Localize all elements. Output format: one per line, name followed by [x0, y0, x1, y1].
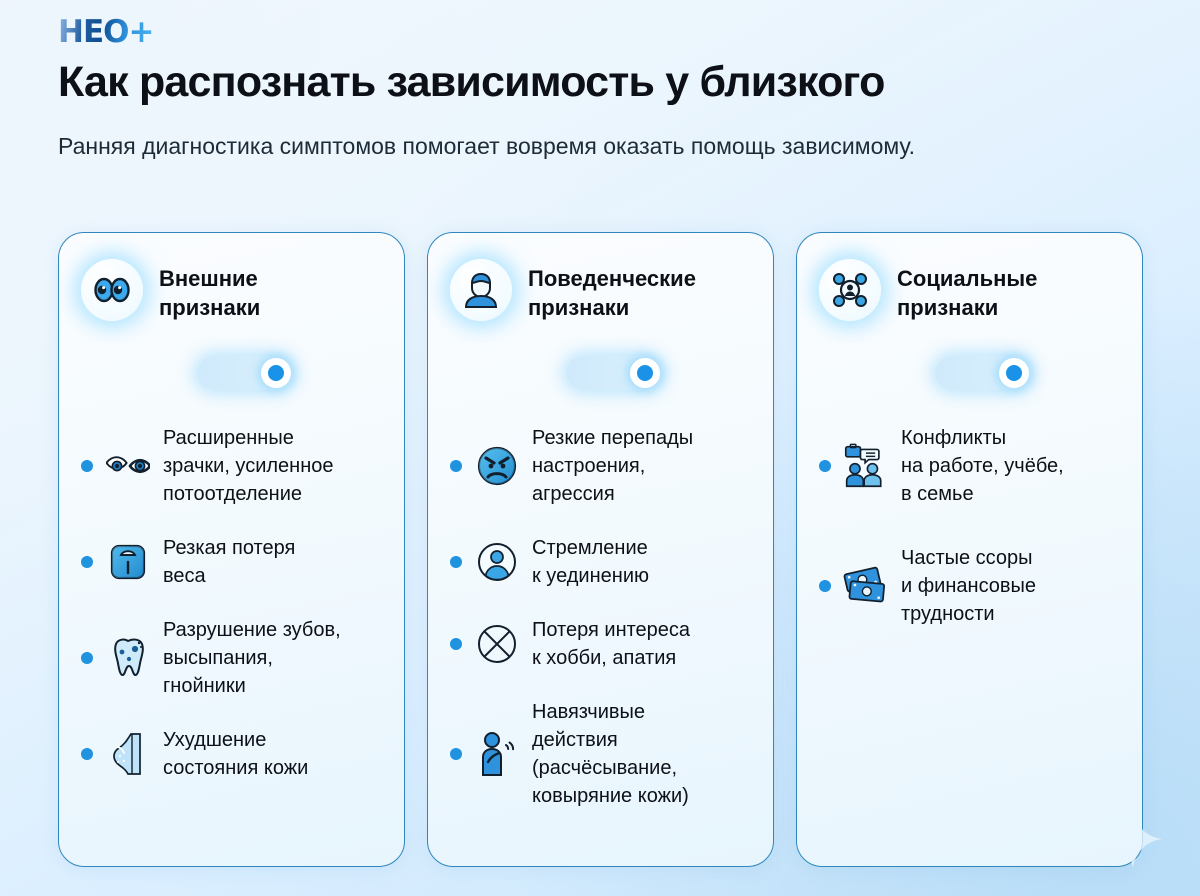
- toggle-switch-on[interactable]: [935, 356, 1031, 390]
- symptom-list: Конфликты на работе, учёбе, в семье: [819, 424, 1120, 664]
- bullet-dot: [81, 556, 93, 568]
- list-item-label: Частые ссоры и финансовые трудности: [901, 544, 1036, 628]
- toggle-switch-on[interactable]: [197, 356, 293, 390]
- list-item: Конфликты на работе, учёбе, в семье: [819, 424, 1120, 508]
- list-item-label: Разрушение зубов, высыпания, гнойники: [163, 616, 341, 700]
- sparkle-star-icon: [1102, 808, 1164, 870]
- toggle-switch-on[interactable]: [566, 356, 662, 390]
- weight-scale-icon: [105, 542, 151, 582]
- list-item: Стремление к уединению: [450, 534, 751, 590]
- conflict-people-icon: [843, 442, 889, 490]
- symptom-list: Расширенные зрачки, усиленное потоотделе…: [81, 424, 382, 808]
- card-social-signs: Социальные признаки: [796, 232, 1143, 867]
- cards-container: Внешние признаки Расширенные: [58, 232, 1144, 867]
- bullet-dot: [819, 580, 831, 592]
- brand-logo: НЕО+: [58, 14, 153, 50]
- card-header: Социальные признаки: [819, 259, 1120, 322]
- banknotes-icon: [843, 565, 889, 607]
- toggle-knob: [999, 358, 1029, 388]
- card-external-signs: Внешние признаки Расширенные: [58, 232, 405, 867]
- list-item: Разрушение зубов, высыпания, гнойники: [81, 616, 382, 700]
- brand-plus: +: [128, 14, 153, 50]
- bullet-dot: [81, 652, 93, 664]
- card-header: Внешние признаки: [81, 259, 382, 322]
- list-item-label: Потеря интереса к хобби, апатия: [532, 616, 690, 672]
- face-skin-icon: [105, 732, 151, 776]
- list-item-label: Конфликты на работе, учёбе, в семье: [901, 424, 1064, 508]
- toggle-knob: [261, 358, 291, 388]
- list-item: Резкая потеря веса: [81, 534, 382, 590]
- bullet-dot: [450, 556, 462, 568]
- decayed-tooth-icon: [105, 637, 151, 679]
- list-item-label: Ухудшение состояния кожи: [163, 726, 308, 782]
- bullet-dot: [450, 460, 462, 472]
- list-item: Навязчивые действия (расчёсывание, ковыр…: [450, 698, 751, 810]
- list-item-label: Резкие перепады настроения, агрессия: [532, 424, 693, 508]
- bullet-dot: [81, 748, 93, 760]
- list-item: Ухудшение состояния кожи: [81, 726, 382, 782]
- list-item: Потеря интереса к хобби, апатия: [450, 616, 751, 672]
- dilated-pupils-icon: [105, 455, 151, 477]
- bullet-dot: [450, 638, 462, 650]
- card-behavioral-signs: Поведенческие признаки: [427, 232, 774, 867]
- scratching-person-icon: [474, 731, 520, 777]
- toggle-knob: [630, 358, 660, 388]
- brand-name: НЕО: [58, 14, 128, 50]
- list-item-label: Стремление к уединению: [532, 534, 649, 590]
- page-title: Как распознать зависимость у близкого: [58, 58, 885, 107]
- symptom-list: Резкие перепады настроения, агрессия Стр…: [450, 424, 751, 836]
- network-people-icon: [819, 259, 881, 321]
- user-circle-icon: [474, 541, 520, 583]
- person-avatar-icon: [450, 259, 512, 321]
- card-header: Поведенческие признаки: [450, 259, 751, 322]
- list-item-label: Резкая потеря веса: [163, 534, 295, 590]
- crossed-circle-icon: [474, 623, 520, 665]
- list-item: Расширенные зрачки, усиленное потоотделе…: [81, 424, 382, 508]
- eyes-icon: [81, 259, 143, 321]
- card-title: Поведенческие признаки: [528, 259, 696, 322]
- list-item: Резкие перепады настроения, агрессия: [450, 424, 751, 508]
- list-item-label: Расширенные зрачки, усиленное потоотделе…: [163, 424, 334, 508]
- card-title: Внешние признаки: [159, 259, 260, 322]
- bullet-dot: [81, 460, 93, 472]
- page-subtitle: Ранняя диагностика симптомов помогает во…: [58, 128, 958, 164]
- bullet-dot: [450, 748, 462, 760]
- bullet-dot: [819, 460, 831, 472]
- angry-face-icon: [474, 445, 520, 487]
- list-item-label: Навязчивые действия (расчёсывание, ковыр…: [532, 698, 689, 810]
- card-title: Социальные признаки: [897, 259, 1037, 322]
- list-item: Частые ссоры и финансовые трудности: [819, 544, 1120, 628]
